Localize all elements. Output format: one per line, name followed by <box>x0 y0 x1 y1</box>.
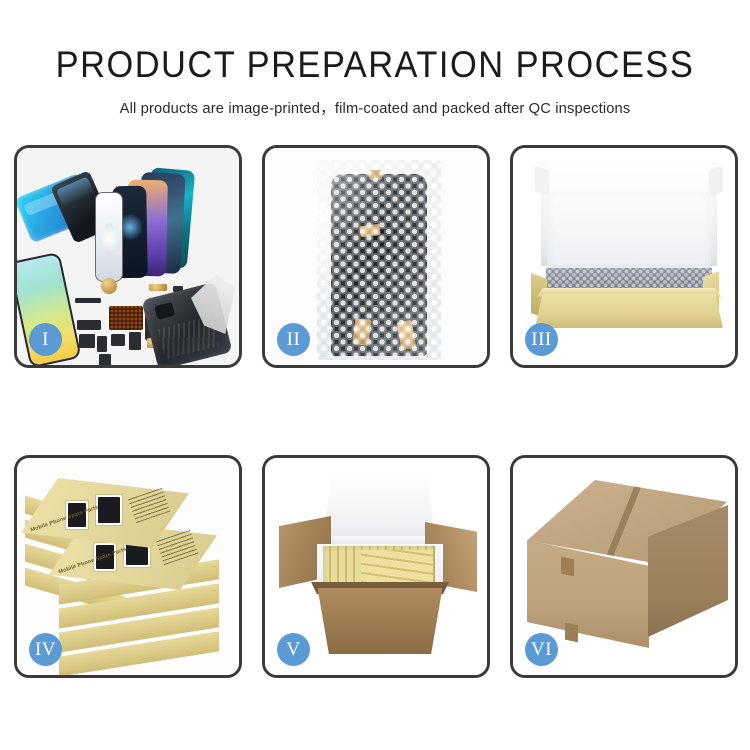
process-step-card-2[interactable]: II <box>262 145 490 368</box>
product-preparation-process-infographic: PRODUCT PREPARATION PROCESS All products… <box>0 0 750 750</box>
carton-tape-tab-icon <box>561 557 574 577</box>
step-numeral-1: I <box>42 330 49 349</box>
process-step-card-4[interactable]: Mobile Phone Spare Parts Mobile Phone Sp… <box>14 455 242 678</box>
phone-screen-stack <box>89 170 239 290</box>
page-subtitle: All products are image-printed，film-coat… <box>0 97 750 118</box>
step-badge-1: I <box>29 323 62 356</box>
plastic-sheen-overlay <box>317 160 441 360</box>
box-front-panel-icon <box>535 294 723 328</box>
step-badge-5: V <box>277 633 310 666</box>
part-screw-icon <box>97 336 107 352</box>
part-sim-tray-icon <box>99 354 111 365</box>
step-badge-6: VI <box>525 633 558 666</box>
process-step-card-5[interactable]: V <box>262 455 490 678</box>
styrofoam-lid-icon <box>323 472 435 544</box>
process-step-card-6[interactable]: VI <box>510 455 738 678</box>
process-step-card-1[interactable]: I <box>14 145 242 368</box>
tempered-glass-icon <box>95 192 123 282</box>
step-badge-3: III <box>525 323 558 356</box>
step-numeral-3: III <box>531 330 551 349</box>
step-numeral-2: II <box>287 330 301 349</box>
step-numeral-5: V <box>286 640 300 659</box>
part-speaker-icon <box>75 298 101 303</box>
part-clip-icon <box>79 334 95 348</box>
page-title: PRODUCT PREPARATION PROCESS <box>26 46 724 83</box>
part-camera-icon <box>111 334 125 346</box>
part-lens-icon <box>101 278 117 294</box>
carton-tape-tab-icon <box>565 623 578 643</box>
part-connector-icon <box>149 284 167 291</box>
part-button-icon <box>129 332 141 350</box>
bubble-wrap-bag-icon <box>317 160 441 360</box>
step-numeral-6: VI <box>531 640 552 659</box>
step-badge-4: IV <box>29 633 62 666</box>
foam-pad-icon <box>547 192 711 270</box>
box-window-product-image <box>98 497 120 523</box>
process-step-card-3[interactable]: III <box>510 145 738 368</box>
step-numeral-4: IV <box>35 640 56 659</box>
carton-front-panel-icon <box>309 588 451 654</box>
step-badge-2: II <box>277 323 310 356</box>
part-board-grid-icon <box>109 306 143 330</box>
part-bracket-icon <box>77 320 101 330</box>
header: PRODUCT PREPARATION PROCESS All products… <box>0 0 750 118</box>
